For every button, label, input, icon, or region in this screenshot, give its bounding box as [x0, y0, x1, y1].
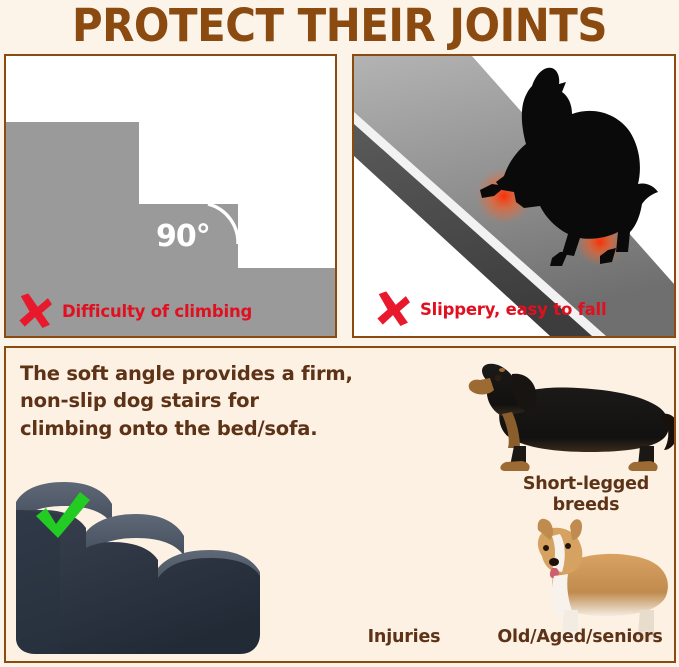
red-x-icon [372, 290, 414, 328]
use-case-label-old-aged: Old/Aged/seniors [484, 627, 676, 648]
angle-annotation-90: 90° [156, 219, 210, 254]
warning-badge-slippery: Slippery, easy to fall [372, 290, 606, 328]
page-title: PROTECT THEIR JOINTS [24, 0, 655, 50]
problem-panel-stairs: 90° Difficulty of climbing [4, 54, 337, 338]
problem-panel-slippery: Slippery, easy to fall [352, 54, 676, 338]
dachshund-dog-image [458, 358, 676, 474]
warning-badge-stairs: Difficulty of climbing [14, 292, 252, 330]
solution-panel: The soft angle provides a firm, non-slip… [4, 346, 676, 663]
infographic-page: PROTECT THEIR JOINTS 90° Difficulty of c… [0, 0, 679, 667]
warning-label-stairs: Difficulty of climbing [62, 302, 252, 321]
green-check-icon [32, 488, 94, 542]
red-x-icon [14, 292, 56, 330]
use-case-label-short-legged: Short-legged breeds [502, 474, 670, 517]
warning-label-slippery: Slippery, easy to fall [420, 300, 606, 319]
solution-headline: The soft angle provides a firm, non-slip… [20, 360, 353, 442]
dachshund-illustration [458, 358, 676, 474]
use-case-label-injuries: Injuries [324, 627, 484, 648]
